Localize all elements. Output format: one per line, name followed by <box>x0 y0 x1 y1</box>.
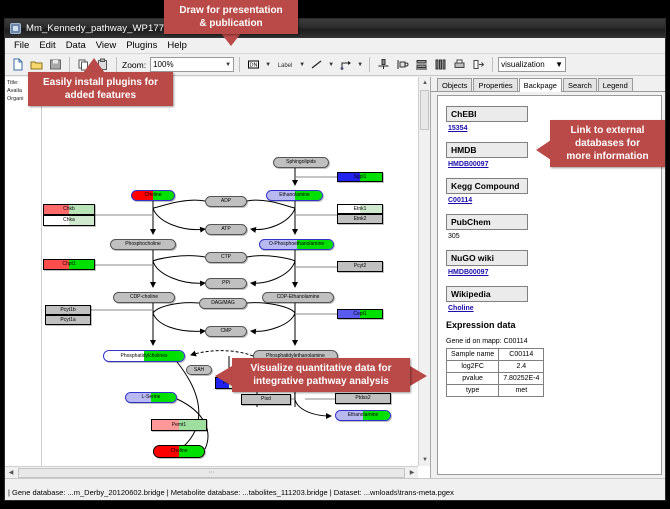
scroll-thumb-horizontal[interactable]: ⋯ <box>18 468 405 478</box>
scroll-down-icon[interactable]: ▼ <box>419 454 431 466</box>
node-label: CMP <box>220 329 231 334</box>
gene-pcyt1b[interactable]: Pcyt1b <box>45 305 91 315</box>
metabolite-ethanolamine-top[interactable]: Ethanolamine <box>266 190 323 201</box>
save-icon[interactable] <box>47 56 64 73</box>
link-callout-arrow <box>536 140 551 160</box>
db-link-kegg[interactable]: C00114 <box>448 197 661 204</box>
metabolite-sah[interactable]: SAH <box>186 365 212 375</box>
chevron-down-icon: ▼ <box>225 62 231 68</box>
resize-handle-s[interactable] <box>178 457 182 458</box>
resize-handle-nw[interactable] <box>153 445 154 446</box>
statusbar-text: | Gene database: ...m_Derby_20120602.bri… <box>5 486 665 500</box>
link-callout-text: Link to external databases for more info… <box>566 125 648 162</box>
table-row: log2FC 2.4 <box>447 361 544 373</box>
label-dropdown-icon[interactable]: ▼ <box>298 62 306 68</box>
tab-objects[interactable]: Objects <box>437 78 472 91</box>
resize-handle-n[interactable] <box>178 445 182 446</box>
table-cell-value: met <box>499 385 544 397</box>
metabolite-l-serine-left[interactable]: L-Serine <box>125 392 177 403</box>
gene-id-on-mapp: Gene id on mapp: C00114 <box>446 338 661 345</box>
metabolite-phosphatidylcholines[interactable]: Phosphatidylcholines <box>103 350 185 362</box>
expression-table: Sample name C00114 log2FC 2.4 pvalue 7.8… <box>446 348 544 397</box>
node-label: Pemt1 <box>172 423 186 428</box>
visualize-callout-arrow <box>215 366 232 386</box>
gene-sgpl1[interactable]: Sgpl1 <box>337 172 383 182</box>
db-header-wikipedia: Wikipedia <box>446 286 528 302</box>
sidebar-tabs: Objects Properties Backpage Search Legen… <box>431 77 665 92</box>
node-label: CDP-Ethanolamine <box>277 295 320 300</box>
node-label: Etnk1 <box>354 207 367 212</box>
line-icon[interactable] <box>308 56 325 73</box>
metabolite-dag-mag[interactable]: DAG/MAG <box>199 298 247 309</box>
node-label: CTP <box>221 255 231 260</box>
align-center-icon[interactable] <box>375 56 392 73</box>
datanode-dropdown-icon[interactable]: ▼ <box>264 62 272 68</box>
db-link-nugo[interactable]: HMDB00097 <box>448 269 661 276</box>
node-label: L-Serine <box>142 395 161 400</box>
node-label: DAG/MAG <box>211 301 235 306</box>
table-cell-label: Sample name <box>447 349 499 361</box>
metabolite-ctp[interactable]: CTP <box>205 252 247 263</box>
gene-etnk1[interactable]: Etnk1 <box>337 204 383 214</box>
canvas-horizontal-scrollbar[interactable]: ◀ ⋯ ▶ <box>5 466 418 478</box>
menu-help[interactable]: Help <box>162 39 192 52</box>
metabolite-ethanolamine-right[interactable]: Ethanolamine <box>335 410 391 421</box>
datanode-icon[interactable]: DN <box>245 56 262 73</box>
toolbar-separator-4 <box>369 57 370 72</box>
db-header-hmdb: HMDB <box>446 142 528 158</box>
metabolite-cdp-ethanolamine[interactable]: CDP-Ethanolamine <box>262 292 334 303</box>
distribute-icon[interactable] <box>432 56 449 73</box>
menubar: File Edit Data View Plugins Help <box>5 38 665 54</box>
zoom-label: Zoom: <box>122 60 146 70</box>
metabolite-choline-top[interactable]: Choline <box>131 190 175 201</box>
db-header-kegg: Kegg Compound <box>446 178 528 194</box>
table-cell-label: type <box>447 385 499 397</box>
node-label: Choline <box>145 193 162 198</box>
node-label: Chpt1 <box>62 262 75 267</box>
table-cell-value: C00114 <box>499 349 544 361</box>
metabolite-ppi[interactable]: PPi <box>205 278 247 289</box>
zoom-combo[interactable]: 100% ▼ <box>150 57 234 72</box>
metabolite-atp[interactable]: ATP <box>205 224 247 235</box>
menu-data[interactable]: Data <box>61 39 91 52</box>
tab-backpage[interactable]: Backpage <box>519 78 562 92</box>
node-label: O-Phosphoethanolamine <box>269 242 324 247</box>
plugins-callout-text: Easily install plugins for added feature… <box>43 77 158 101</box>
gene-cept1[interactable]: Cept1 <box>337 309 383 319</box>
visualization-value: visualization <box>501 60 545 69</box>
link-callout: Link to external databases for more info… <box>550 120 665 167</box>
metabolite-choline-selected[interactable]: Choline <box>153 445 205 458</box>
scroll-left-icon[interactable]: ◀ <box>5 467 17 479</box>
visualization-combo[interactable]: visualization ▼ <box>498 57 566 72</box>
metabolite-adp[interactable]: ADP <box>205 196 247 207</box>
svg-text:Label: Label <box>278 63 293 69</box>
align-rows-icon[interactable] <box>413 56 430 73</box>
metabolite-cdp-choline[interactable]: CDP-choline <box>113 292 175 303</box>
svg-text:DN: DN <box>250 63 258 69</box>
window-titlebar: Mm_Kennedy_pathway_WP1771_45176.gpml <box>5 19 665 38</box>
node-label: Pcyt1a <box>60 318 75 323</box>
align-left-icon[interactable] <box>394 56 411 73</box>
gene-chkb[interactable]: Chkb <box>43 204 95 215</box>
menu-file[interactable]: File <box>9 39 34 52</box>
node-label: CDP-choline <box>130 295 158 300</box>
table-cell-label: pvalue <box>447 373 499 385</box>
arrow-shape-icon[interactable] <box>337 56 354 73</box>
scroll-up-icon[interactable]: ▲ <box>419 77 431 89</box>
statusbar: | Gene database: ...m_Derby_20120602.bri… <box>5 478 665 500</box>
menu-plugins[interactable]: Plugins <box>121 39 162 52</box>
visualize-callout-arrow-right <box>410 366 427 386</box>
node-label: Choline <box>171 449 188 454</box>
line-dropdown-icon[interactable]: ▼ <box>327 62 335 68</box>
metabolite-o-phosphoethanolamine[interactable]: O-Phosphoethanolamine <box>259 239 334 250</box>
metabolite-cmp[interactable]: CMP <box>205 326 247 337</box>
zoom-value: 100% <box>153 60 173 69</box>
node-label: Ethanolamine <box>279 193 310 198</box>
node-label: Ethanolamine <box>348 413 379 418</box>
chevron-down-icon: ▼ <box>555 60 563 69</box>
plugins-callout-arrow <box>83 58 105 73</box>
label-icon[interactable]: Label <box>274 56 296 73</box>
menu-view[interactable]: View <box>91 39 121 52</box>
node-label: SAH <box>194 368 204 373</box>
node-label: Pcyt2 <box>354 264 367 269</box>
db-header-nugo: NuGO wiki <box>446 250 528 266</box>
table-cell-value: 2.4 <box>499 361 544 373</box>
menu-edit[interactable]: Edit <box>34 39 60 52</box>
metabolite-sphingolipids[interactable]: Sphingolipids <box>273 157 329 168</box>
node-label: Sgpl1 <box>354 175 367 180</box>
scroll-right-icon[interactable]: ▶ <box>406 467 418 479</box>
draw-callout-text: Draw for presentation & publication <box>179 5 282 29</box>
export-icon[interactable] <box>470 56 487 73</box>
arrow-dropdown-icon[interactable]: ▼ <box>356 62 364 68</box>
node-label: Phosphatidylcholines <box>121 354 168 359</box>
table-cell-value: 7.80252E-4 <box>499 373 544 385</box>
node-label: ADP <box>221 199 231 204</box>
tab-legend[interactable]: Legend <box>598 78 633 91</box>
metabolite-phosphocholine[interactable]: Phosphocholine <box>110 239 176 250</box>
node-label: Ptdss2 <box>355 396 370 401</box>
node-label: Chka <box>63 218 75 223</box>
gene-etnk2[interactable]: Etnk2 <box>337 214 383 224</box>
gene-pemt1[interactable]: Pemt1 <box>151 419 207 431</box>
visualize-callout: Visualize quantitative data for integrat… <box>232 358 410 392</box>
gene-pcyt2[interactable]: Pcyt2 <box>337 261 383 272</box>
node-label: Phosphocholine <box>125 242 161 247</box>
gene-chka[interactable]: Chka <box>43 215 95 226</box>
open-folder-icon[interactable] <box>28 56 45 73</box>
gene-chpt1[interactable]: Chpt1 <box>43 259 95 270</box>
pathway-editor-pane: Title: Availa Organi <box>5 77 431 478</box>
node-label: Pisd <box>261 397 271 402</box>
new-file-icon[interactable] <box>9 56 26 73</box>
db-value-pubchem: 305 <box>448 233 661 240</box>
app-icon <box>10 23 21 34</box>
screenshot-root: Mm_Kennedy_pathway_WP1771_45176.gpml Fil… <box>0 0 670 509</box>
pathway-canvas[interactable]: Title: Availa Organi <box>5 77 418 466</box>
node-label: Sphingolipids <box>286 160 316 165</box>
gene-ptdss2[interactable]: Ptdss2 <box>335 393 391 404</box>
node-label: Cept1 <box>353 312 366 317</box>
node-label: Chkb <box>63 207 75 212</box>
gene-pisd[interactable]: Pisd <box>241 394 291 405</box>
visualize-callout-text: Visualize quantitative data for integrat… <box>251 363 392 387</box>
db-header-pubchem: PubChem <box>446 214 528 230</box>
expression-data-heading: Expression data <box>446 320 661 330</box>
gene-pcyt1a[interactable]: Pcyt1a <box>45 315 91 325</box>
draw-callout: Draw for presentation & publication <box>164 0 298 34</box>
table-row: Sample name C00114 <box>447 349 544 361</box>
table-cell-label: log2FC <box>447 361 499 373</box>
table-row: type met <box>447 385 544 397</box>
plugins-callout: Easily install plugins for added feature… <box>28 72 173 106</box>
node-label: PPi <box>222 281 230 286</box>
draw-callout-arrow <box>220 32 242 46</box>
toolbar-separator-1 <box>69 57 70 72</box>
print-icon[interactable] <box>451 56 468 73</box>
toolbar-separator-3 <box>239 57 240 72</box>
node-label: Pcyt1b <box>60 308 75 313</box>
canvas-vertical-scrollbar[interactable]: ▲ ▼ <box>418 77 430 466</box>
node-label: Etnk2 <box>354 217 367 222</box>
tab-search[interactable]: Search <box>563 78 597 91</box>
node-label: ATP <box>221 227 230 232</box>
db-header-chebi: ChEBI <box>446 106 528 122</box>
toolbar-separator-2 <box>116 57 117 72</box>
tab-properties[interactable]: Properties <box>473 78 517 91</box>
resize-handle-w[interactable] <box>153 450 154 454</box>
scroll-thumb-vertical[interactable] <box>420 90 429 130</box>
table-row: pvalue 7.80252E-4 <box>447 373 544 385</box>
toolbar-separator-5 <box>492 57 493 72</box>
db-link-wikipedia[interactable]: Choline <box>448 305 661 312</box>
